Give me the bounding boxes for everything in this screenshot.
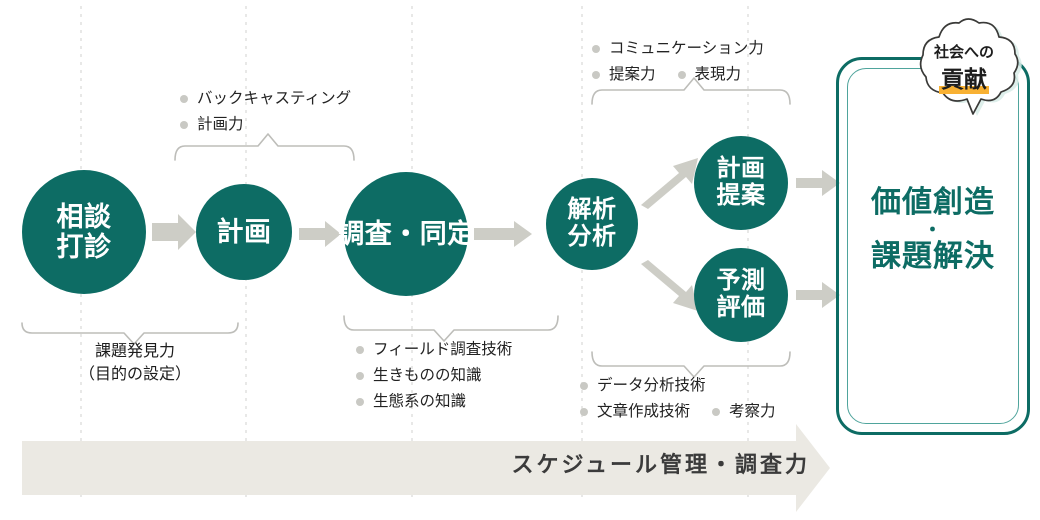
flow-node-yosoku-hyouka[interactable]: 予測 評価 bbox=[694, 248, 788, 342]
skill-label: 生態系の知識 bbox=[373, 389, 466, 415]
skill-row: データ分析技術 bbox=[580, 373, 776, 399]
skill-label: 生きものの知識 bbox=[373, 363, 482, 389]
skill-label: データ分析技術 bbox=[597, 373, 706, 399]
arrow-chousa-to-kaiseki bbox=[474, 221, 532, 247]
arrow-yosoku-to-panel bbox=[796, 282, 840, 308]
flow-node-soudan[interactable]: 相談 打診 bbox=[22, 170, 146, 294]
flow-node-chousa[interactable]: 調査・同定 bbox=[344, 172, 468, 296]
skill-label: 表現力 bbox=[695, 62, 742, 88]
bullet-icon bbox=[356, 372, 364, 380]
bullet-icon bbox=[712, 408, 720, 416]
flow-node-label: 予測 bbox=[717, 268, 766, 295]
skill-row: 生きものの知識 bbox=[356, 363, 512, 389]
skill-item: コミュニケーション力 bbox=[592, 36, 764, 62]
skill-item: バックキャスティング bbox=[180, 86, 351, 112]
arrow-soudan-to-keikaku bbox=[152, 214, 196, 250]
cloud-line-2: 貢献 bbox=[939, 65, 989, 94]
cloud-callout-text: 社会への 貢献 bbox=[896, 44, 1032, 94]
skill-row: 文章作成技術 考察力 bbox=[580, 399, 776, 425]
bullet-icon bbox=[592, 45, 600, 53]
skill-label: 考察力 bbox=[729, 399, 776, 425]
flow-node-label: 調査・同定 bbox=[337, 219, 475, 249]
arrow-teian-to-panel bbox=[796, 170, 840, 196]
skill-label: 計画力 bbox=[197, 112, 244, 138]
bullet-icon bbox=[180, 121, 188, 129]
caption-line: 課題発見力 bbox=[40, 340, 230, 363]
flow-node-label: 相談 bbox=[57, 202, 112, 232]
bullet-icon bbox=[592, 71, 600, 79]
flow-node-label: 解析 bbox=[568, 197, 617, 224]
diagram-canvas: 相談 打診 計画 調査・同定 解析 分析 計画 提案 予測 評価 バックキャステ… bbox=[0, 0, 1040, 520]
skill-label: 文章作成技術 bbox=[597, 399, 690, 425]
skill-row: バックキャスティング bbox=[180, 86, 351, 112]
caption-problem-finding: 課題発見力 （目的の設定） bbox=[40, 340, 230, 386]
skill-row: 提案力 表現力 bbox=[592, 62, 764, 88]
skill-list-data-analysis: データ分析技術 文章作成技術 考察力 bbox=[580, 373, 776, 425]
skill-label: コミュニケーション力 bbox=[609, 36, 764, 62]
flow-node-keikaku-teian[interactable]: 計画 提案 bbox=[694, 136, 788, 230]
flow-node-label: 分析 bbox=[568, 224, 617, 251]
flow-node-label: 打診 bbox=[57, 232, 112, 262]
bullet-icon bbox=[356, 346, 364, 354]
skill-row: 計画力 bbox=[180, 112, 351, 138]
flow-node-label: 計画 bbox=[717, 156, 766, 183]
skill-item: 生態系の知識 bbox=[356, 389, 466, 415]
flow-node-kaiseki[interactable]: 解析 分析 bbox=[546, 178, 638, 270]
skill-item: フィールド調査技術 bbox=[356, 337, 512, 363]
bullet-icon bbox=[180, 95, 188, 103]
bullet-icon bbox=[580, 408, 588, 416]
skill-label: バックキャスティング bbox=[197, 86, 351, 112]
flow-node-label: 評価 bbox=[717, 295, 766, 322]
skill-row: フィールド調査技術 bbox=[356, 337, 512, 363]
skill-item: データ分析技術 bbox=[580, 373, 706, 399]
skill-item: 考察力 bbox=[712, 399, 776, 425]
result-line-2: 課題解決 bbox=[871, 240, 995, 273]
result-line-1: 価値創造 bbox=[871, 186, 995, 219]
branch-arrows bbox=[641, 158, 698, 311]
caption-line: （目的の設定） bbox=[40, 363, 230, 386]
schedule-banner-label: スケジュール管理・調査力 bbox=[0, 447, 810, 479]
result-panel-text: 価値創造 ・ 課題解決 bbox=[836, 185, 1030, 275]
arrow-kaiseki-to-yosoku bbox=[641, 260, 698, 311]
flow-node-label: 計画 bbox=[217, 217, 272, 247]
skill-label: フィールド調査技術 bbox=[373, 337, 512, 363]
skill-list-field-survey: フィールド調査技術 生きものの知識 生態系の知識 bbox=[356, 337, 512, 415]
bullet-icon bbox=[356, 398, 364, 406]
skill-list-communication: コミュニケーション力 提案力 表現力 bbox=[592, 36, 764, 88]
flow-node-keikaku[interactable]: 計画 bbox=[196, 184, 292, 280]
skill-label: 提案力 bbox=[609, 62, 656, 88]
arrow-keikaku-to-chousa bbox=[299, 221, 341, 247]
bullet-icon bbox=[678, 71, 686, 79]
cloud-line-1: 社会への bbox=[896, 44, 1032, 63]
cloud-line-2-wrap: 貢献 bbox=[896, 63, 1032, 94]
arrow-kaiseki-to-teian bbox=[641, 158, 698, 209]
skill-row: コミュニケーション力 bbox=[592, 36, 764, 62]
skill-row: 生態系の知識 bbox=[356, 389, 512, 415]
skill-list-planning: バックキャスティング 計画力 bbox=[180, 86, 351, 138]
skill-item: 生きものの知識 bbox=[356, 363, 482, 389]
bullet-icon bbox=[580, 382, 588, 390]
result-separator: ・ bbox=[836, 222, 1030, 239]
skill-item: 表現力 bbox=[678, 62, 742, 88]
flow-node-label: 提案 bbox=[717, 183, 766, 210]
skill-item: 文章作成技術 bbox=[580, 399, 690, 425]
skill-item: 計画力 bbox=[180, 112, 244, 138]
skill-item: 提案力 bbox=[592, 62, 656, 88]
